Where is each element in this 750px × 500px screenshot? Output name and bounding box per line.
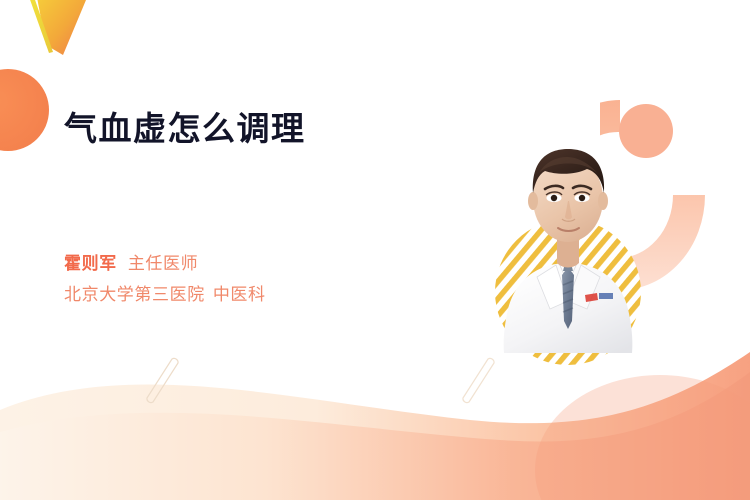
left-orange-circle — [0, 69, 49, 151]
wave-highlight-blob — [535, 375, 750, 500]
credit-line-doctor: 霍则军主任医师 — [64, 248, 266, 279]
credit-line-hospital: 北京大学第三医院中医科 — [64, 279, 266, 310]
hospital-name: 北京大学第三医院 — [64, 285, 205, 304]
portrait-artwork — [493, 95, 643, 367]
title-block: 气血虚怎么调理 — [64, 108, 464, 150]
ghost-diagonal-stroke-2 — [463, 358, 494, 402]
doctor-role: 主任医师 — [128, 254, 198, 273]
department-name: 中医科 — [213, 285, 266, 304]
doctor-name: 霍则军 — [64, 254, 117, 273]
page-title: 气血虚怎么调理 — [64, 108, 464, 150]
corner-diagonal-lines — [28, 0, 86, 55]
doctor-portrait — [493, 95, 643, 367]
cover-card: 气血虚怎么调理 霍则军主任医师 北京大学第三医院中医科 — [0, 0, 750, 500]
credit-block: 霍则军主任医师 北京大学第三医院中医科 — [64, 248, 266, 310]
